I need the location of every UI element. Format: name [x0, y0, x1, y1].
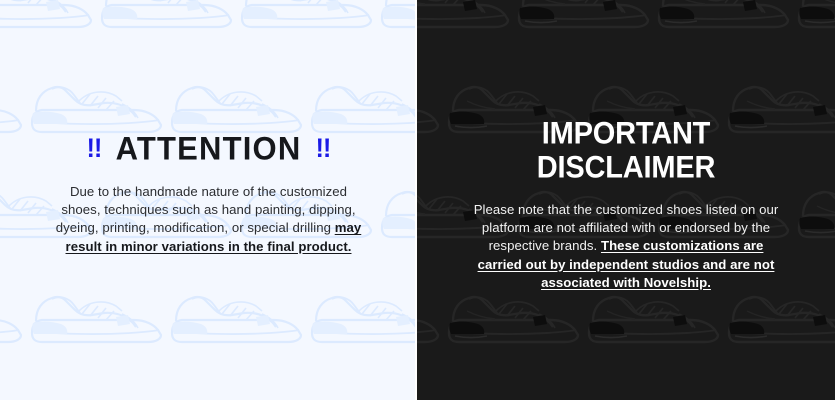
attention-content: !! ATTENTION !! Due to the handmade natu… — [0, 133, 417, 256]
customization-notice-banner: !! ATTENTION !! Due to the handmade natu… — [0, 0, 835, 400]
attention-body-text: Due to the handmade nature of the custom… — [50, 183, 368, 256]
attention-title: ATTENTION — [116, 132, 302, 164]
disclaimer-heading: IMPORTANT DISCLAIMER — [445, 117, 807, 185]
disclaimer-heading-line2: DISCLAIMER — [445, 151, 807, 185]
exclamation-left-icon: !! — [86, 135, 101, 162]
attention-heading: !! ATTENTION !! — [28, 133, 389, 164]
disclaimer-heading-line1: IMPORTANT — [445, 117, 807, 151]
attention-body-normal: Due to the handmade nature of the custom… — [56, 184, 356, 235]
disclaimer-panel: IMPORTANT DISCLAIMER Please note that th… — [417, 0, 835, 400]
disclaimer-content: IMPORTANT DISCLAIMER Please note that th… — [417, 117, 835, 292]
disclaimer-body-text: Please note that the customized shoes li… — [466, 201, 786, 292]
attention-panel: !! ATTENTION !! Due to the handmade natu… — [0, 0, 417, 400]
exclamation-right-icon: !! — [316, 135, 331, 162]
